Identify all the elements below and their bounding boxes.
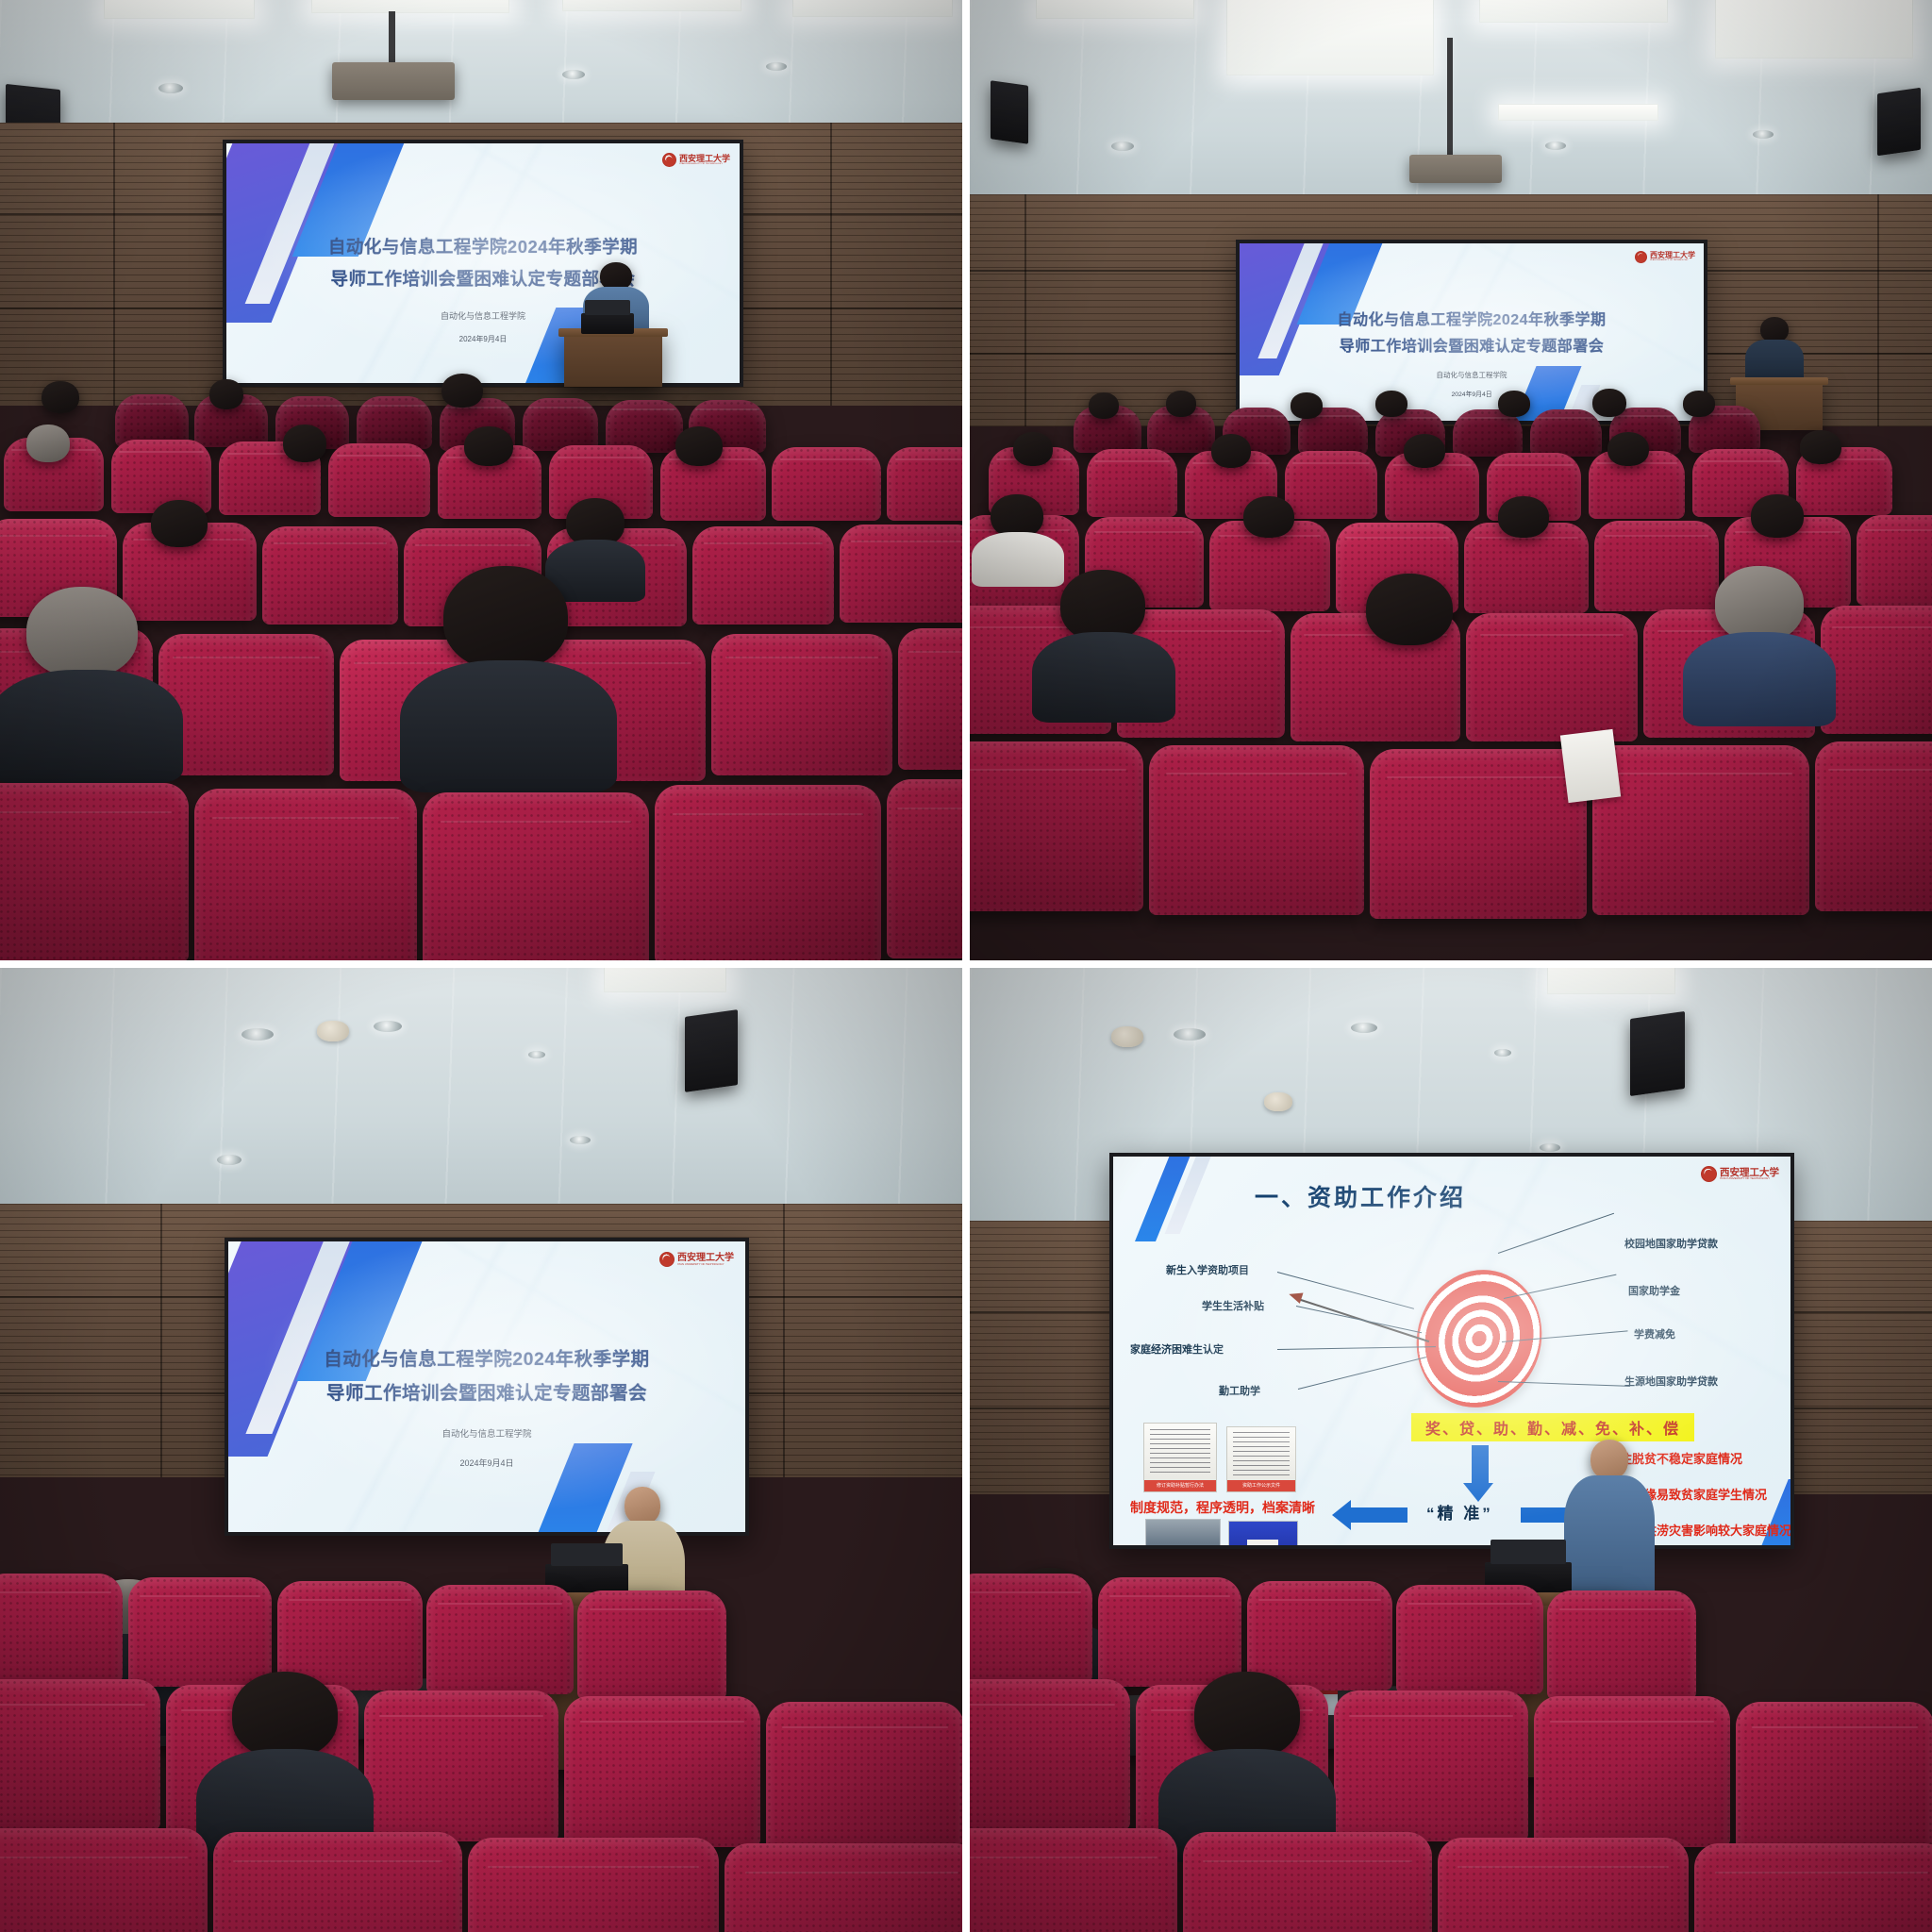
panel-2-audience-wide-view: 西安理工大学 XI'AN UNIVERSITY OF TECHNOLOGY 自动… [970,0,1932,960]
logo-chinese-name: 西安理工大学 [679,155,730,163]
logo-chinese-name: 西安理工大学 [1650,252,1695,259]
university-logo: 西安理工大学 XI'AN UNIVERSITY OF TECHNOLOGY [1701,1166,1779,1182]
slide-title-line2: 导师工作培训会暨困难认定专题部署会 [1240,336,1704,359]
projection-screen-panel1: 西安理工大学 XI'AN UNIVERSITY OF TECHNOLOGY 自动… [223,140,743,387]
handout-paper [1560,729,1621,803]
wall-speaker-left [991,80,1028,144]
doc-thumb: 修订资助补贴暂行办法 [1143,1423,1217,1492]
slide-title-line2: 导师工作培训会暨困难认定专题部署会 [228,1379,745,1407]
panel-4-funding-intro-slide: 西安理工大学 XI'AN UNIVERSITY OF TECHNOLOGY 一、… [970,968,1932,1932]
logo-chinese-name: 西安理工大学 [677,1254,734,1263]
panel-3-presenter-at-podium: 西安理工大学 XI'AN UNIVERSITY OF TECHNOLOGY 自动… [0,968,962,1932]
laptop-panel1 [581,313,634,334]
slide4-center-word: “精 准” [1426,1500,1493,1524]
slide4-left-red-line: 制度规范，程序透明，档案清晰 [1130,1498,1315,1517]
slide-title-line2: 导师工作培训会暨困难认定专题部署会 [226,266,740,293]
doc-caption: 修订资助补贴暂行办法 [1144,1480,1216,1491]
slide-title-line1: 自动化与信息工程学院2024年秋季学期 [1240,309,1704,333]
slide-org: 自动化与信息工程学院 [228,1426,745,1440]
logo-english-name: XI'AN UNIVERSITY OF TECHNOLOGY [1650,260,1695,262]
slide4-heading: 一、资助工作介绍 [1255,1179,1466,1213]
slide-title-line1: 自动化与信息工程学院2024年秋季学期 [226,234,740,261]
panel-1-audience-rear-view: 西安理工大学 XI'AN UNIVERSITY OF TECHNOLOGY 自动… [0,0,962,960]
slide-date: 2024年9月4日 [228,1457,745,1469]
slide4-left-label-2: 家庭经济困难生认定 [1130,1341,1224,1357]
slide4-left-label-3: 勤工助学 [1219,1383,1260,1398]
logo-english-name: XI'AN UNIVERSITY OF TECHNOLOGY [1720,1178,1779,1180]
wall-speaker-right [685,1009,738,1092]
slide4-left-label-1: 学生生活补贴 [1202,1298,1264,1313]
slide-org: 自动化与信息工程学院 [1240,370,1704,380]
university-logo: 西安理工大学 XI'AN UNIVERSITY OF TECHNOLOGY [1635,251,1695,263]
logo-english-name: XI'AN UNIVERSITY OF TECHNOLOGY [679,163,730,165]
university-logo: 西安理工大学 XI'AN UNIVERSITY OF TECHNOLOGY [662,153,730,167]
logo-english-name: XI'AN UNIVERSITY OF TECHNOLOGY [677,1263,734,1265]
ceiling-projector [1409,155,1502,183]
photo-collage: 西安理工大学 XI'AN UNIVERSITY OF TECHNOLOGY 自动… [0,0,1932,1932]
doc-thumb: 资助工作公示文件 [1226,1426,1296,1492]
wall-speaker-right [1630,1011,1685,1096]
smoke-detector [1264,1092,1292,1111]
slide4-right-label-3: 生源地国家助学贷款 [1624,1374,1718,1389]
slide4-banner: 奖、贷、助、勤、减、免、补、偿 [1411,1413,1694,1441]
title-slide: 西安理工大学 XI'AN UNIVERSITY OF TECHNOLOGY 自动… [226,143,740,383]
university-logo: 西安理工大学 XI'AN UNIVERSITY OF TECHNOLOGY [659,1252,734,1267]
slide-title-line1: 自动化与信息工程学院2024年秋季学期 [228,1345,745,1374]
funding-intro-slide: 西安理工大学 XI'AN UNIVERSITY OF TECHNOLOGY 一、… [1113,1157,1790,1545]
doc-caption: 资助工作公示文件 [1227,1480,1295,1491]
slide4-right-label-2: 学费减免 [1634,1326,1675,1341]
ceiling-projector [332,62,455,100]
smoke-detector [1111,1026,1143,1047]
smoke-detector [317,1021,349,1041]
slide4-right-label-1: 国家助学金 [1628,1283,1680,1298]
projection-screen-panel4: 西安理工大学 XI'AN UNIVERSITY OF TECHNOLOGY 一、… [1109,1153,1794,1549]
slide-org: 自动化与信息工程学院 [226,309,740,322]
wall-speaker-right [1877,88,1921,156]
slide4-left-label-0: 新生入学资助项目 [1166,1262,1249,1277]
slide4-right-label-0: 校园地国家助学贷款 [1624,1236,1718,1251]
